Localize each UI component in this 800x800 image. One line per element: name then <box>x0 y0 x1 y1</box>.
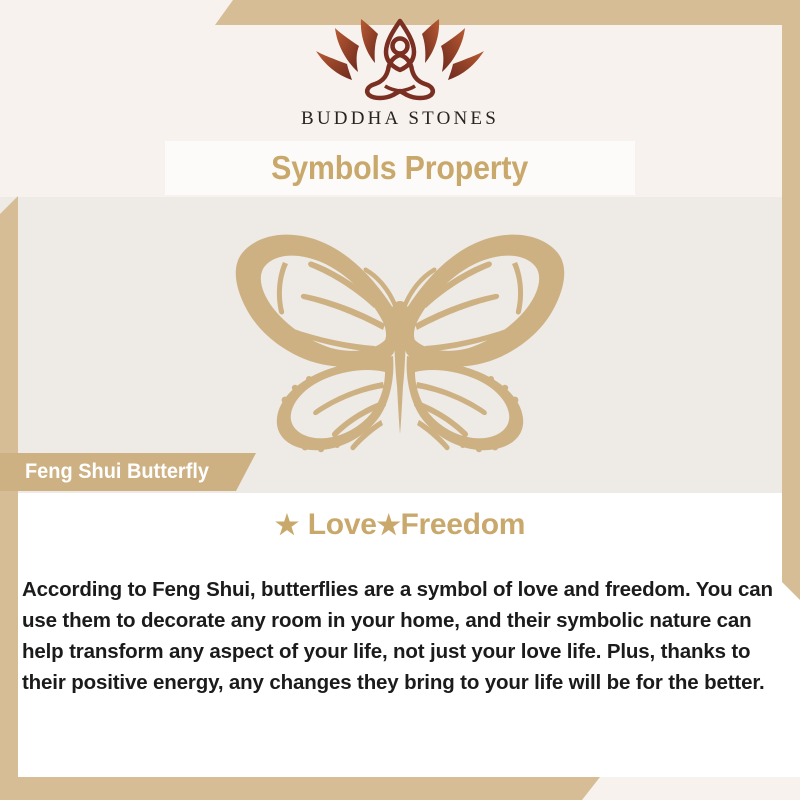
description-text: According to Feng Shui, butterflies are … <box>22 574 778 698</box>
frame-bottom-border <box>0 777 600 800</box>
butterfly-icon <box>225 228 575 456</box>
status-badge: Feng Shui Butterfly <box>0 453 256 491</box>
brand-logo: BUDDHA STONES <box>0 18 800 130</box>
star-icon: ★ <box>275 512 299 539</box>
subtitle-word-freedom: Freedom <box>401 508 526 542</box>
promo-card: BUDDHA STONES Symbols Property <box>0 0 800 800</box>
subtitle-word-love: Love <box>308 508 377 542</box>
title-banner: Symbols Property <box>165 141 635 195</box>
tag-label: Feng Shui Butterfly <box>25 460 209 484</box>
page-title: Symbols Property <box>272 149 529 187</box>
star-icon: ★ <box>377 512 401 539</box>
subtitle: ★ Love ★ Freedom <box>0 508 800 542</box>
brand-name: BUDDHA STONES <box>301 108 499 130</box>
hero-image <box>0 222 800 462</box>
lotus-meditation-figure-icon <box>305 18 495 104</box>
